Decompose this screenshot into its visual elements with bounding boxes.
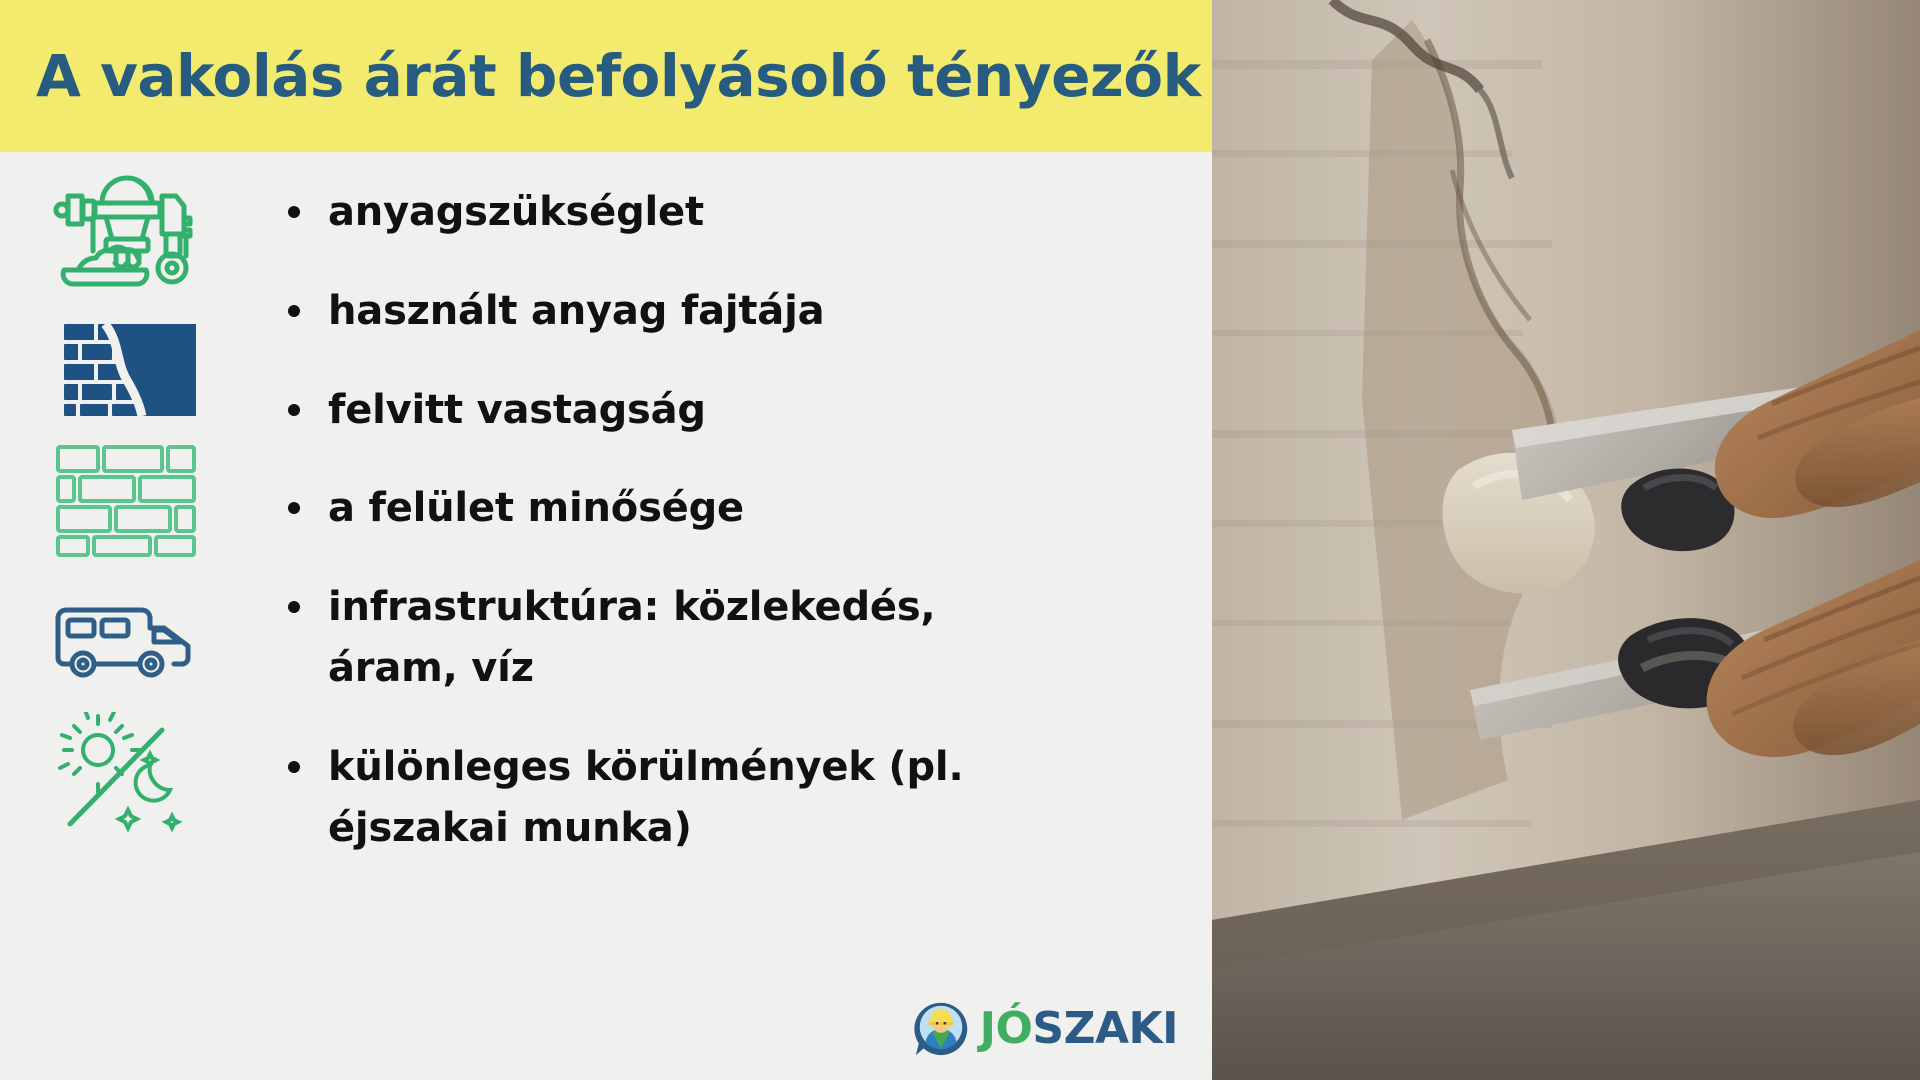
header-band: A vakolás árát befolyásoló tényezők — [0, 0, 1212, 152]
left-panel: A vakolás árát befolyásoló tényezők — [0, 0, 1212, 1080]
cement-mixer-icon — [40, 158, 210, 288]
logo-text-szaki: SZAKI — [1032, 1003, 1178, 1054]
page-title: A vakolás árát befolyásoló tényezők — [0, 42, 1201, 110]
list-item: a felület minősége — [282, 478, 1028, 539]
joszaki-logo[interactable]: JÓSZAKI — [912, 1000, 1178, 1058]
content-area: anyagszükséglet használt anyag fajtája f… — [0, 152, 1212, 1080]
logo-wordmark: JÓSZAKI — [980, 1007, 1178, 1051]
list-item: infrastruktúra: közlekedés, áram, víz — [282, 577, 1028, 699]
joszaki-avatar-icon — [912, 1000, 970, 1058]
list-item: használt anyag fajtája — [282, 281, 1028, 342]
factor-list: anyagszükséglet használt anyag fajtája f… — [282, 182, 1192, 858]
list-item: különleges körülmények (pl. éjszakai mun… — [282, 737, 1028, 859]
list-item: anyagszükséglet — [282, 182, 1028, 243]
list-column: anyagszükséglet használt anyag fajtája f… — [230, 152, 1212, 1080]
delivery-van-icon — [40, 576, 210, 706]
list-item: felvitt vastagság — [282, 380, 1028, 441]
brick-wall-icon — [40, 434, 210, 564]
plastering-wall-photo — [1212, 0, 1920, 1080]
logo-text-jo: JÓ — [980, 1003, 1033, 1054]
infographic-canvas: A vakolás árát befolyásoló tényezők — [0, 0, 1920, 1080]
icon-column — [0, 152, 230, 1080]
plaster-wall-icon — [40, 300, 210, 430]
sun-moon-icon — [40, 712, 210, 842]
